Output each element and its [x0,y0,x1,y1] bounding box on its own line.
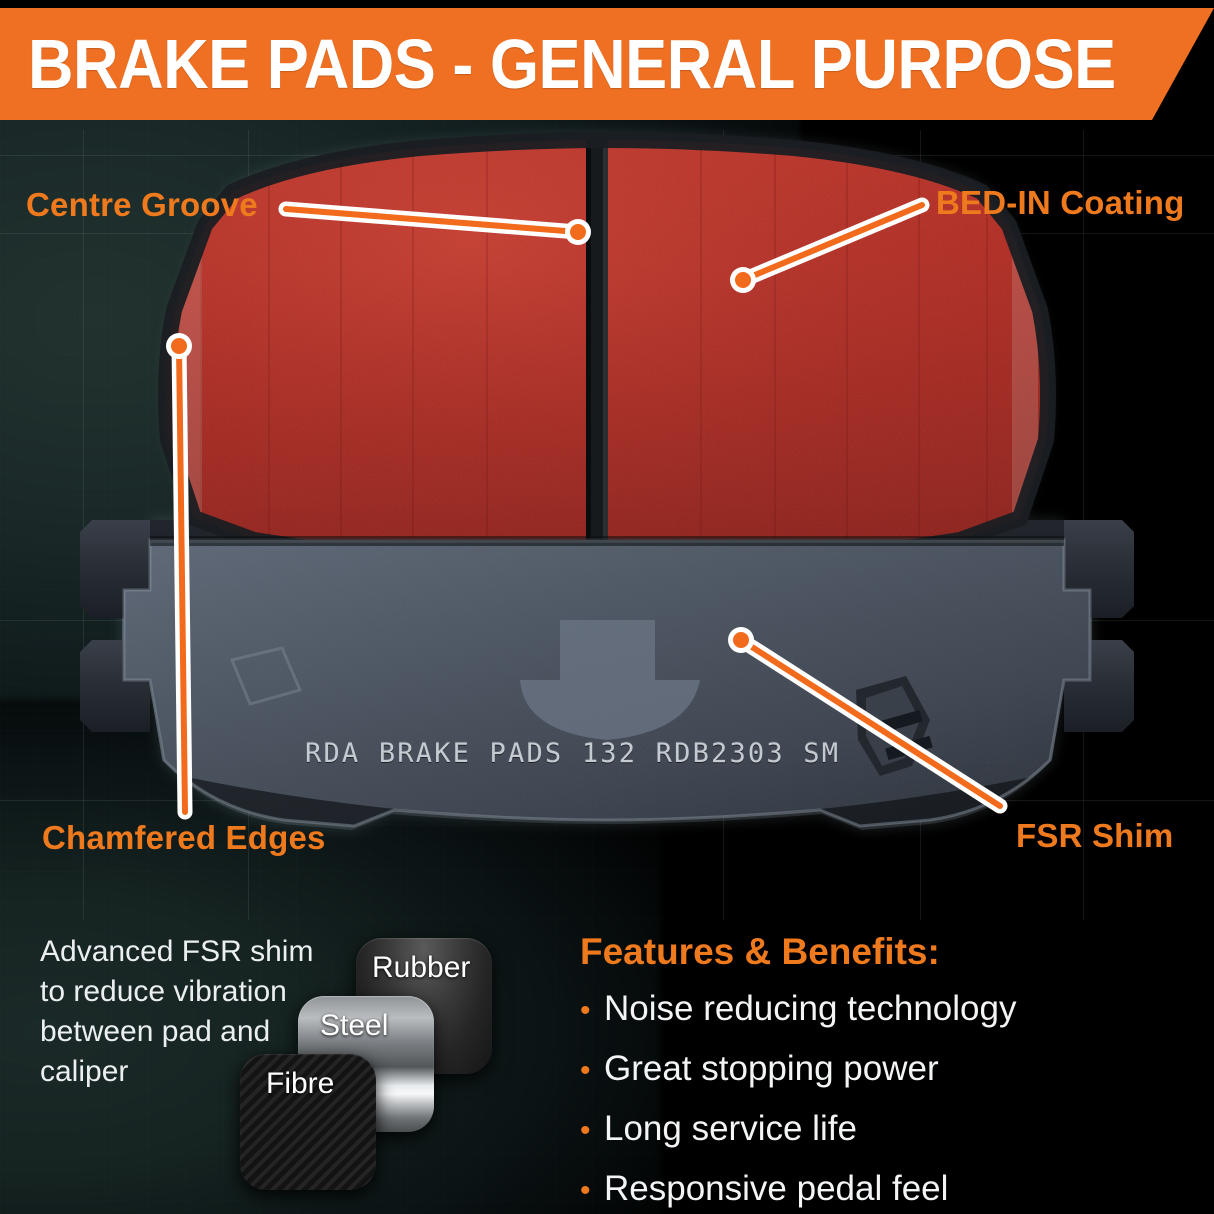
bullet-icon: • [580,1048,604,1094]
layer-tile-label-fibre: Fibre [266,1068,334,1100]
layer-tile-label-steel: Steel [320,1010,388,1042]
fsr-shim-plate [110,535,1110,840]
poster-root: BRAKE PADS - GENERAL PURPOSE [0,0,1214,1214]
feature-list-item: • Great stopping power [580,1046,1180,1094]
callout-label-bed-in-coating: BED-IN Coating [936,185,1184,221]
feature-list-item: • Long service life [580,1106,1180,1154]
brake-pad-illustration: RDA BRAKE PADS 132 RDB2303 SM [0,120,1214,910]
layer-tile-label-rubber: Rubber [372,952,470,984]
page-title: BRAKE PADS - GENERAL PURPOSE [28,22,1116,106]
features-benefits-title: Features & Benefits: [580,930,1180,974]
header-banner: BRAKE PADS - GENERAL PURPOSE [0,8,1214,120]
features-benefits-section: Features & Benefits: • Noise reducing te… [580,930,1180,1214]
feature-text: Long service life [604,1106,857,1152]
feature-list-item: • Noise reducing technology [580,986,1180,1034]
callout-label-centre-groove: Centre Groove [26,187,258,223]
feature-list-item: • Responsive pedal feel [580,1166,1180,1214]
feature-text: Noise reducing technology [604,986,1016,1032]
brake-pad-svg [0,120,1214,910]
feature-text: Great stopping power [604,1046,939,1092]
feature-text: Responsive pedal feel [604,1166,948,1212]
shim-layer-diagram: Rubber Steel Fibre [236,930,516,1180]
friction-material [150,130,1070,580]
stamped-product-code: RDA BRAKE PADS 132 RDB2303 SM [305,738,840,769]
callout-label-chamfered-edges: Chamfered Edges [42,820,326,856]
callout-label-fsr-shim: FSR Shim [1016,818,1173,854]
bullet-icon: • [580,988,604,1034]
centre-groove-slot [586,140,608,568]
bullet-icon: • [580,1168,604,1214]
layer-tile-fibre: Fibre [240,1054,376,1190]
bullet-icon: • [580,1108,604,1154]
